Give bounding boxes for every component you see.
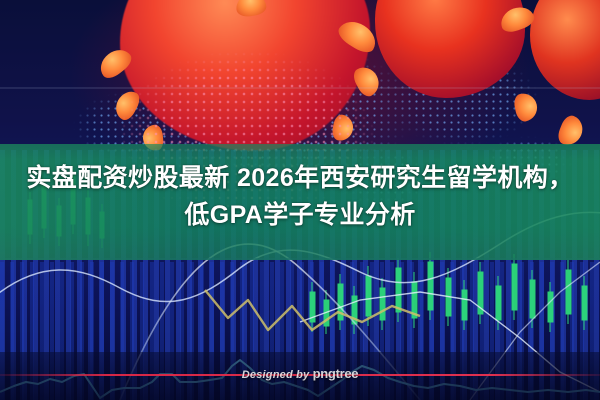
watermark: Designed by pngtree xyxy=(0,366,600,381)
watermark-brand: pngtree xyxy=(313,366,359,381)
candlestick-group-right xyxy=(310,252,587,334)
headline-line-2: 低GPA学子专业分析 xyxy=(14,197,586,234)
watermark-prefix: Designed by xyxy=(242,369,313,381)
banner-image: 实盘配资炒股最新 2026年西安研究生留学机构， 低GPA学子专业分析 Desi… xyxy=(0,0,600,400)
headline-line-1: 实盘配资炒股最新 2026年西安研究生留学机构， xyxy=(26,164,573,192)
headline-text: 实盘配资炒股最新 2026年西安研究生留学机构， 低GPA学子专业分析 xyxy=(0,160,600,234)
